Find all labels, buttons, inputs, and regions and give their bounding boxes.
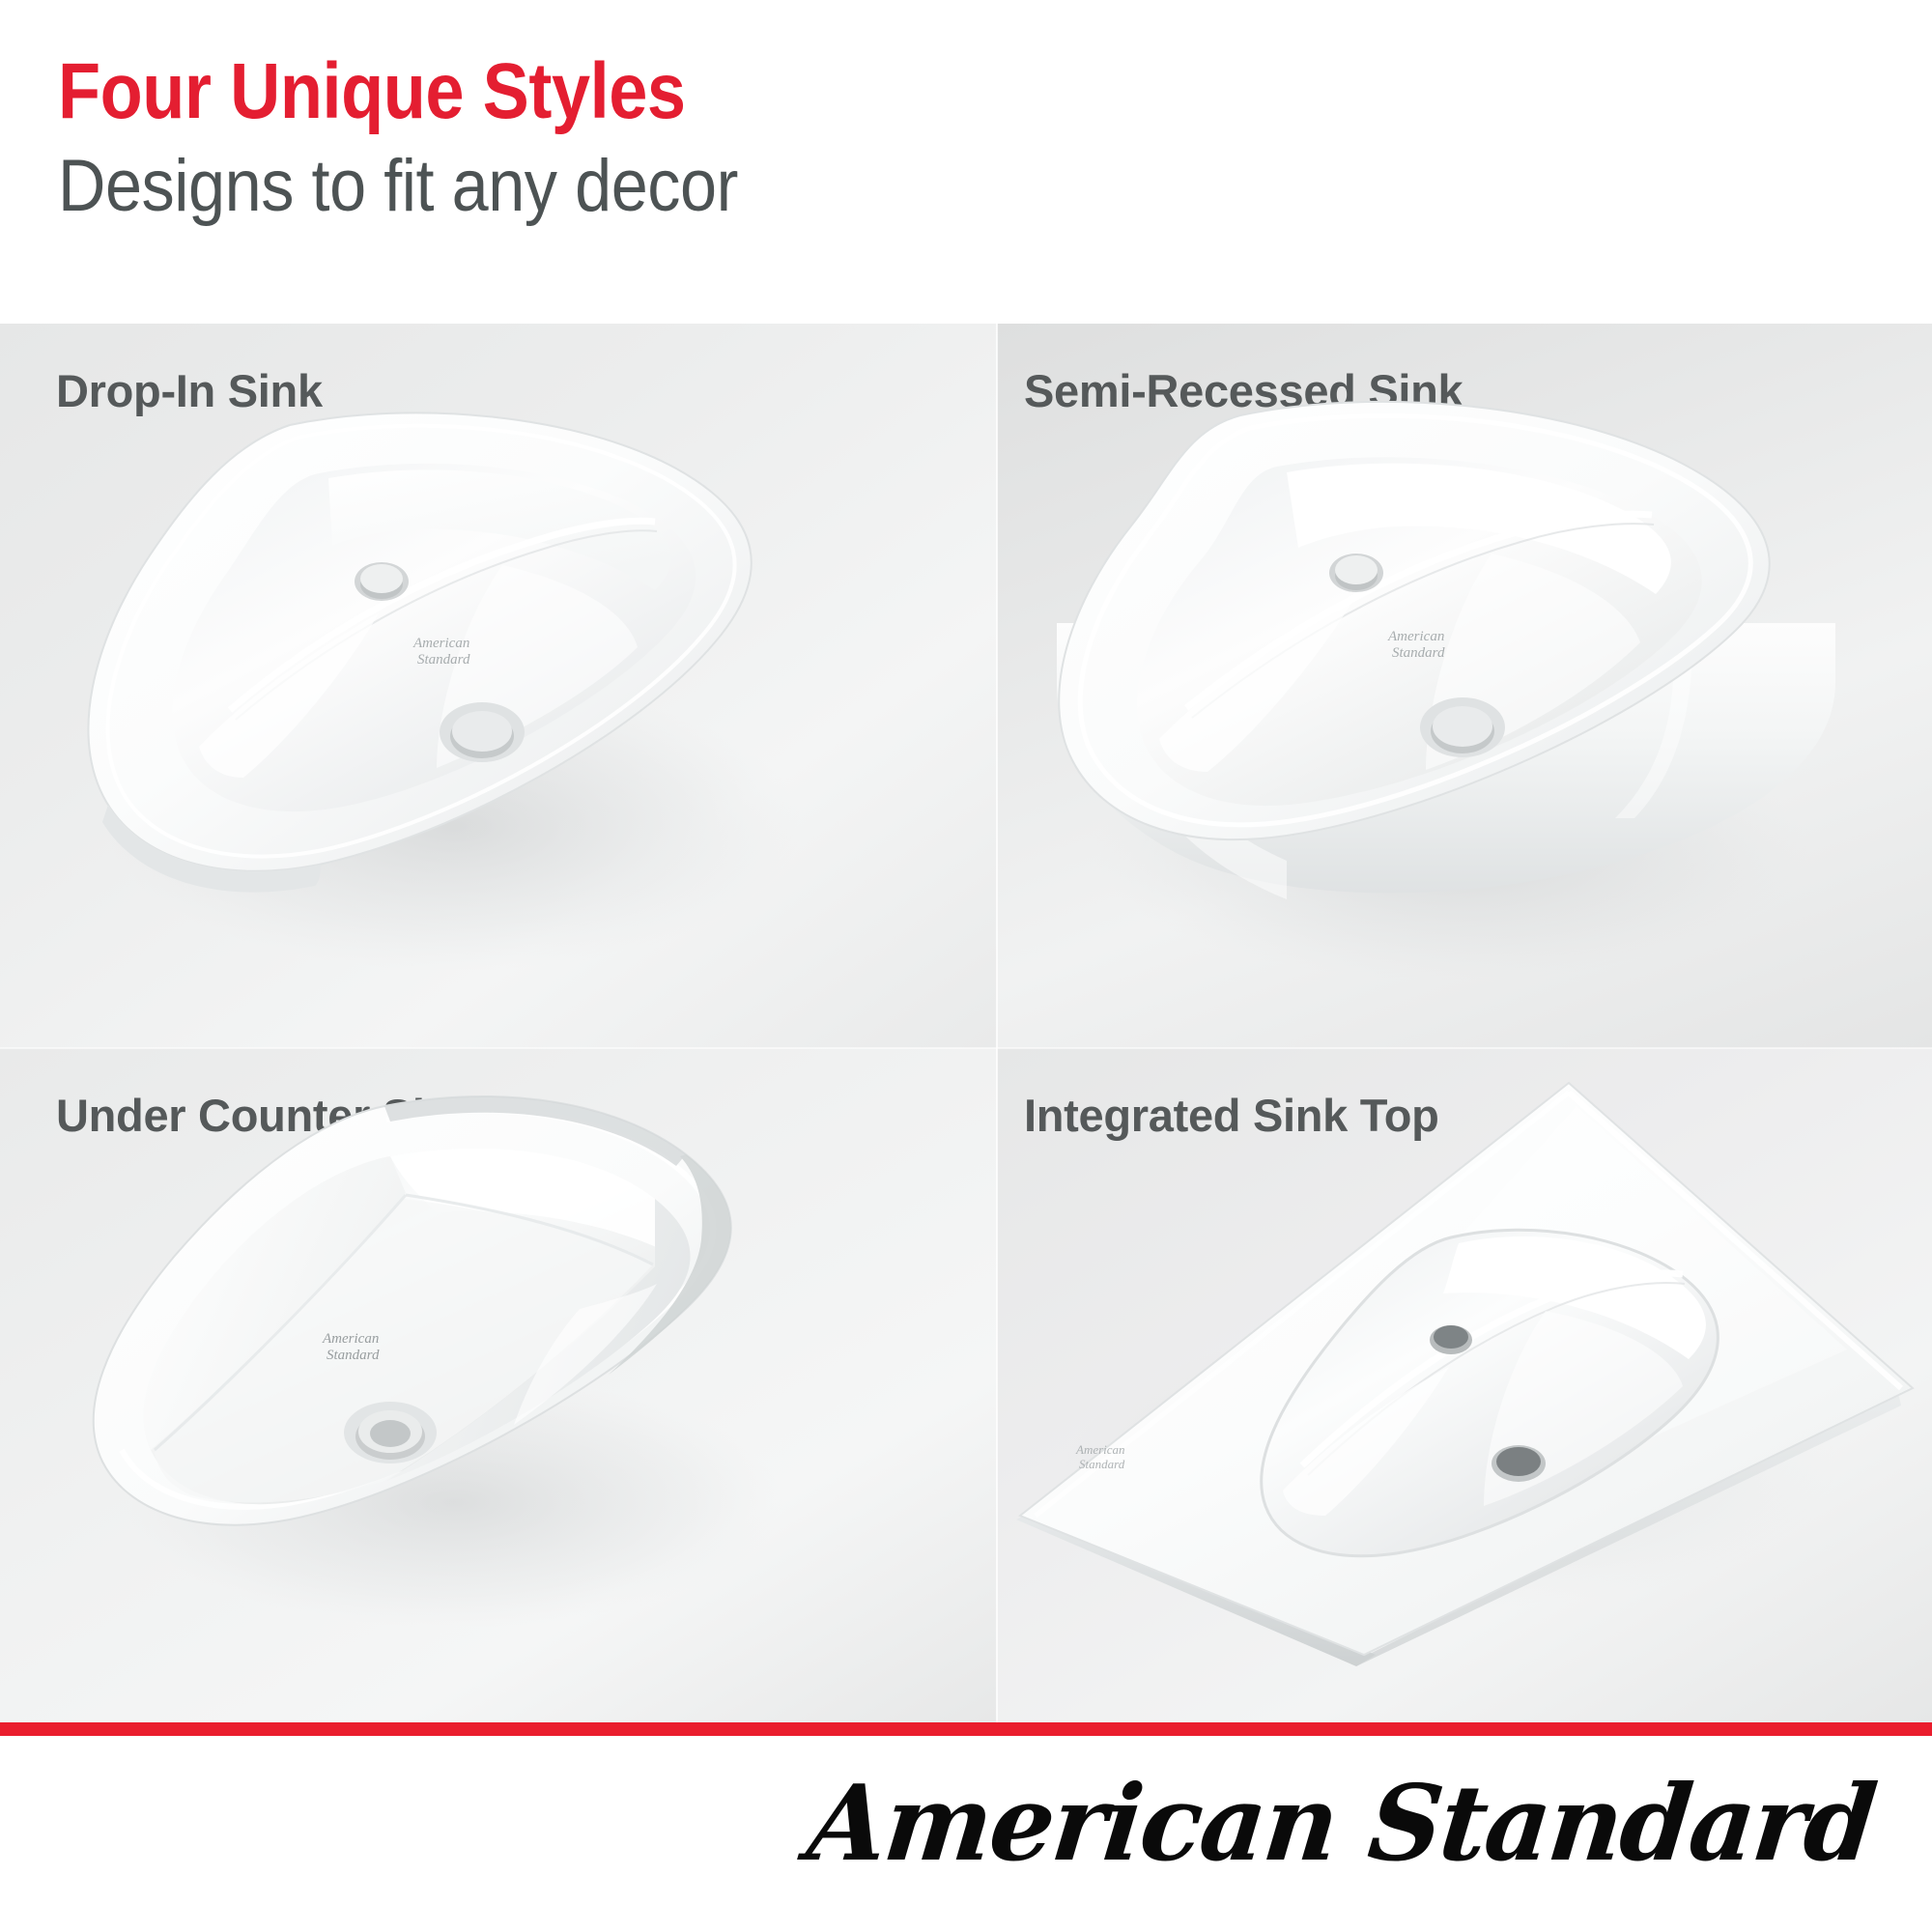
integrated-sink-top-image: American Standard (997, 1048, 1932, 1722)
grid-divider-horizontal (0, 1047, 1932, 1049)
page-header: Four Unique Styles Designs to fit any de… (0, 0, 1932, 324)
accent-bar (0, 1722, 1932, 1736)
product-brand-mark: American (412, 636, 469, 651)
panel-under-counter-sink[interactable]: Under Counter Sink (0, 1048, 997, 1722)
panel-label-integrated-sink-top: Integrated Sink Top (1024, 1089, 1439, 1142)
drop-in-sink-image: American Standard (0, 324, 997, 1048)
panel-drop-in-sink[interactable]: Drop-In Sink (0, 324, 997, 1048)
panel-label-drop-in-sink: Drop-In Sink (56, 364, 323, 417)
panel-label-under-counter-sink: Under Counter Sink (56, 1089, 477, 1142)
product-brand-mark: American (1075, 1442, 1125, 1457)
svg-text:Standard: Standard (1392, 645, 1445, 661)
under-counter-sink-image: American Standard (0, 1048, 997, 1722)
semi-recessed-sink-image: American Standard (997, 324, 1932, 1048)
product-brand-mark: American (322, 1331, 379, 1347)
panel-label-semi-recessed-sink: Semi-Recessed Sink (1024, 364, 1463, 417)
american-standard-logo: American Standard (803, 1763, 1881, 1885)
panel-integrated-sink-top[interactable]: Integrated Sink Top (997, 1048, 1932, 1722)
page-footer: American Standard (0, 1736, 1932, 1932)
product-brand-mark: American (1387, 629, 1444, 644)
page-title: Four Unique Styles (58, 50, 1707, 133)
svg-text:Standard: Standard (1079, 1457, 1125, 1471)
page-subtitle: Designs to fit any decor (58, 147, 1745, 226)
svg-text:Standard: Standard (327, 1348, 380, 1363)
grid-divider-vertical (996, 324, 998, 1722)
panel-semi-recessed-sink[interactable]: Semi-Recessed Sink (997, 324, 1932, 1048)
svg-text:Standard: Standard (417, 652, 470, 668)
sink-style-grid: Drop-In Sink (0, 324, 1932, 1722)
